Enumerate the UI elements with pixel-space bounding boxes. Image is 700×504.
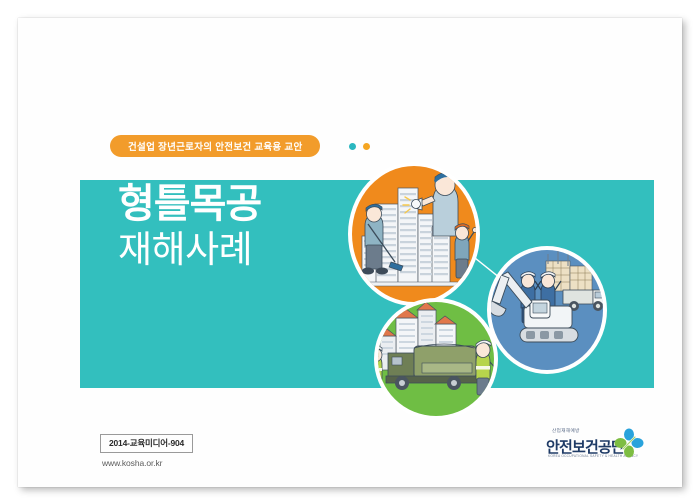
kosha-emblem-icon <box>614 428 644 458</box>
website-url[interactable]: www.kosha.or.kr <box>102 458 162 468</box>
document-sheet: 건설업 장년근로자의 안전보건 교육용 교안 형틀목공 재해사례 <box>18 18 682 487</box>
logo-sub-text: 산업재해예방 <box>552 428 580 434</box>
page-title-line1: 형틀목공 <box>118 184 378 224</box>
banner-label: 건설업 장년근로자의 안전보건 교육용 교안 <box>110 135 320 157</box>
decorative-dot-teal <box>349 143 356 150</box>
publication-code: 2014-교육미디어-904 <box>100 434 193 453</box>
page-title-line2: 재해사례 <box>118 231 378 268</box>
decorative-dot-orange <box>363 143 370 150</box>
page-title: 형틀목공 재해사례 <box>118 184 378 268</box>
kosha-logo: 산업재해예방 안전보건공단 KOREA OCCUPATIONAL SAFETY … <box>538 426 648 468</box>
cover-page-canvas: 건설업 장년근로자의 안전보건 교육용 교안 형틀목공 재해사례 <box>0 0 700 504</box>
